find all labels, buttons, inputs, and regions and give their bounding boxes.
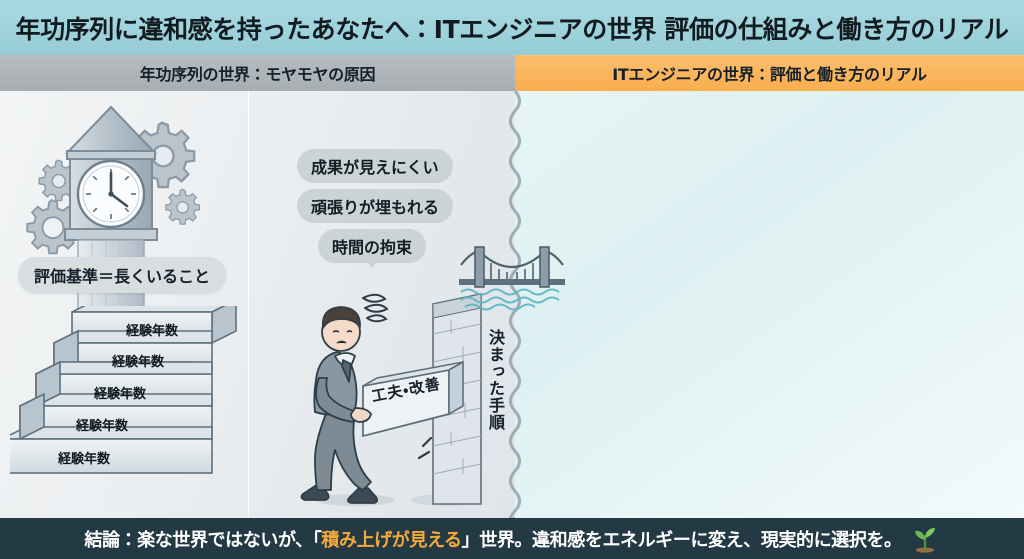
section-header-right: ITエンジニアの世界：評価と働き方のリアル bbox=[515, 55, 1024, 91]
page-title-bar: 年功序列に違和感を持ったあなたへ：ITエンジニアの世界 評価の仕組みと働き方のリ… bbox=[0, 0, 1024, 56]
bubble-tail bbox=[364, 257, 380, 268]
stair-label: 経験年数 bbox=[126, 320, 178, 339]
section-header-bars: 年功序列の世界：モヤモヤの原因 ITエンジニアの世界：評価と働き方のリアル bbox=[0, 55, 1024, 91]
section-header-right-label: ITエンジニアの世界：評価と働き方のリアル bbox=[612, 61, 926, 85]
stair-label: 経験年数 bbox=[94, 383, 146, 402]
impact-lines bbox=[419, 438, 431, 458]
pain-bubble: 頑張りが埋もれる bbox=[297, 189, 453, 223]
page-title: 年功序列に違和感を持ったあなたへ：ITエンジニアの世界 評価の仕組みと働き方のリ… bbox=[15, 10, 1008, 46]
stair-label: 経験年数 bbox=[112, 351, 164, 370]
left-world-panel: 評価基準＝長くいること bbox=[0, 91, 515, 518]
footer-highlight: 積み上げが見える bbox=[321, 530, 461, 551]
stress-swirl-icon bbox=[363, 295, 387, 322]
section-header-left: 年功序列の世界：モヤモヤの原因 bbox=[0, 55, 515, 91]
content-body: 評価基準＝長くいること bbox=[0, 91, 1024, 518]
stair-label: 経験年数 bbox=[76, 415, 128, 434]
conclusion-footer: 結論：楽な世界ではないが、「積み上げが見える」世界。違和感をエネルギーに変え、現… bbox=[0, 518, 1024, 559]
pain-bubble: 成果が見えにくい bbox=[297, 149, 453, 183]
criteria-pill: 評価基準＝長くいること bbox=[18, 257, 226, 293]
bridge-icon bbox=[459, 241, 565, 311]
sprout-icon bbox=[910, 524, 940, 554]
stairs-illustration: 経験年数 経験年数 経験年数 経験年数 経験年数 bbox=[10, 306, 250, 511]
infographic-page: 年功序列に違和感を持ったあなたへ：ITエンジニアの世界 評価の仕組みと働き方のリ… bbox=[0, 0, 1024, 559]
footer-text: 結論：楽な世界ではないが、「積み上げが見える」世界。違和感をエネルギーに変え、現… bbox=[84, 526, 901, 552]
footer-text-before: 結論：楽な世界ではないが、「 bbox=[84, 530, 321, 551]
right-world-panel: 評価の軸 成果・価値 bbox=[515, 91, 1024, 518]
stair-label: 経験年数 bbox=[58, 448, 110, 467]
footer-text-after: 」世界。違和感をエネルギーに変え、現実的に選択を。 bbox=[462, 530, 902, 551]
clock-face-icon bbox=[78, 161, 144, 227]
section-header-left-label: 年功序列の世界：モヤモヤの原因 bbox=[140, 61, 376, 85]
